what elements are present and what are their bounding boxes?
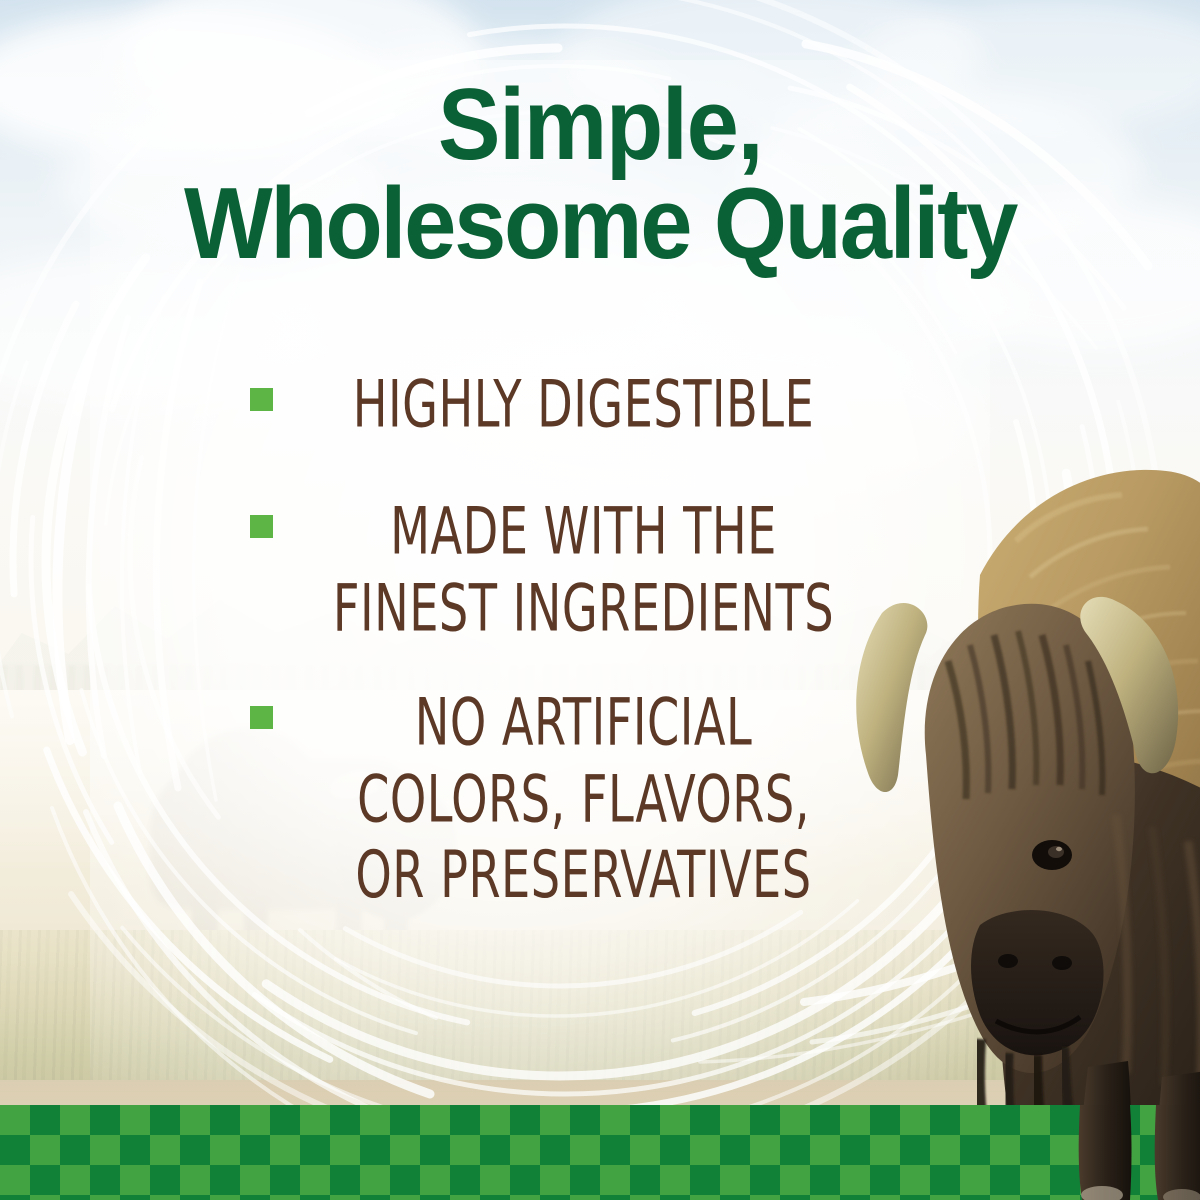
list-item: HIGHLY DIGESTIBLE — [250, 368, 870, 431]
square-bullet-icon — [250, 388, 273, 411]
bison-legs-overlay — [830, 1105, 1200, 1200]
feature-bullet-list: HIGHLY DIGESTIBLE MADE WITH THE FINEST I… — [250, 368, 870, 873]
square-bullet-icon — [250, 515, 273, 538]
page-title-line-1: Simple, — [438, 69, 762, 181]
square-bullet-icon — [250, 706, 273, 729]
list-item-label: MADE WITH THE FINEST INGREDIENTS — [306, 495, 862, 648]
bison-photo — [830, 455, 1200, 1200]
list-item: MADE WITH THE FINEST INGREDIENTS — [250, 495, 870, 620]
list-item-label: NO ARTIFICIAL COLORS, FLAVORS, OR PRESER… — [306, 686, 862, 915]
list-item-line: FINEST INGREDIENTS — [333, 571, 834, 645]
list-item-line: NO ARTIFICIAL — [415, 686, 752, 760]
page-title: Simple, Wholesome Quality — [42, 76, 1158, 274]
list-item-line: OR PRESERVATIVES — [355, 838, 811, 912]
list-item-line: MADE WITH THE — [390, 495, 777, 569]
list-item: NO ARTIFICIAL COLORS, FLAVORS, OR PRESER… — [250, 686, 870, 874]
page-title-line-2: Wholesome Quality — [42, 175, 1158, 274]
list-item-line: COLORS, FLAVORS, — [357, 762, 810, 836]
promotional-banner: Simple, Wholesome Quality HIGHLY DIGESTI… — [0, 0, 1200, 1200]
list-item-label: HIGHLY DIGESTIBLE — [306, 368, 862, 444]
